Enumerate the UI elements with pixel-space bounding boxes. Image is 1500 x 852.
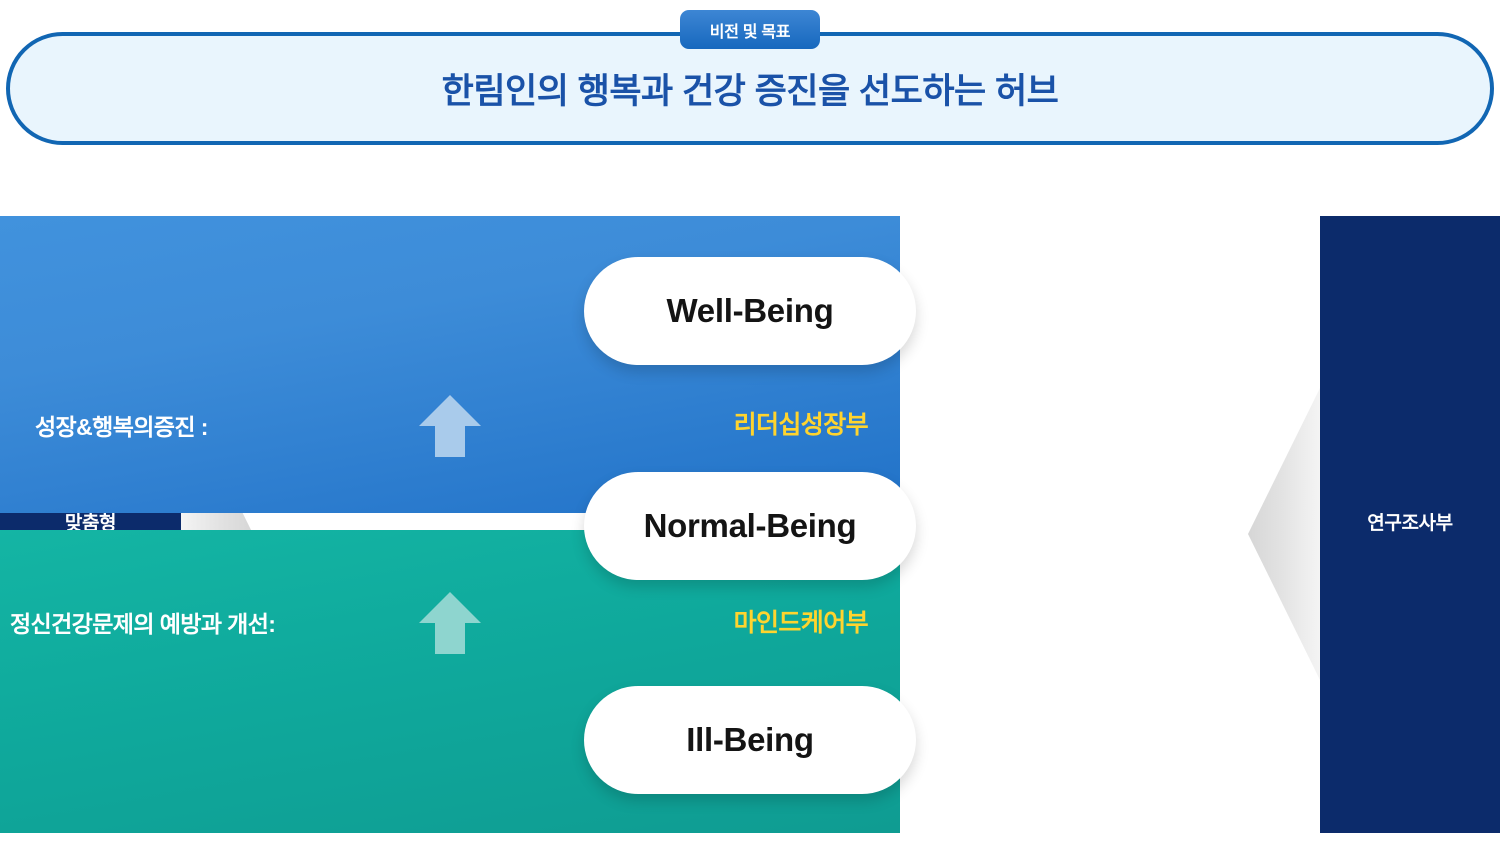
band-label-mental-health: 정신건강문제의 예방과 개선:: [10, 605, 275, 639]
arrow-left-icon: [1248, 388, 1320, 680]
department-label-leadership: 리더십성장부: [734, 405, 868, 441]
state-pill-well-being: Well-Being: [584, 257, 916, 365]
state-pill-label-ill-being: Ill-Being: [686, 721, 813, 759]
page-title: 한림인의 행복과 건강 증진을 선도하는 허브: [10, 36, 1490, 141]
diagram-canvas: 한림인의 행복과 건강 증진을 선도하는 허브 비전 및 목표 모니터링, 환류…: [0, 0, 1500, 852]
state-pill-label-normal-being: Normal-Being: [644, 507, 857, 545]
state-pill-label-well-being: Well-Being: [667, 292, 834, 330]
state-pill-normal-being: Normal-Being: [584, 472, 916, 580]
arrow-up-icon-teal: [417, 590, 483, 656]
right-side-panel: 연구조사부: [1320, 216, 1500, 833]
state-pill-ill-being: Ill-Being: [584, 686, 916, 794]
department-label-mindcare: 마인드케어부: [734, 603, 868, 639]
right-side-panel-label: 연구조사부: [1367, 511, 1452, 538]
arrow-up-icon-blue: [417, 393, 483, 459]
section-badge-vision-goal: 비전 및 목표: [680, 10, 820, 49]
band-label-growth-happiness: 성장&행복의증진 :: [35, 408, 208, 442]
